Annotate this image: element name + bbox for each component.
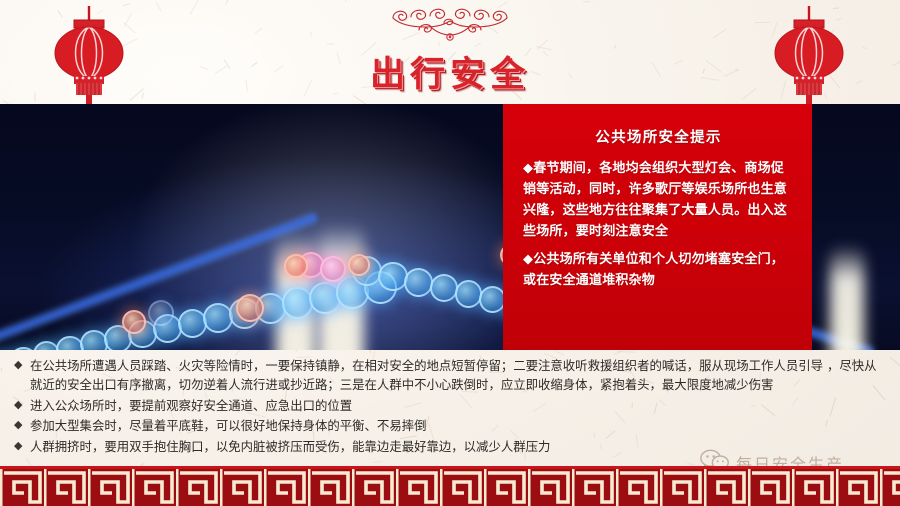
page-title: 出行安全 — [0, 46, 900, 97]
bullet-2-text: 进入公众场所时，要提前观察好安全通道、应急出口的位置 — [30, 396, 886, 415]
list-item: ◆ 在公共场所遭遇人员踩踏、火灾等险情时，一要保持镇静，在相对安全的地点短暂停留… — [14, 356, 886, 395]
chinese-meander-border — [0, 469, 900, 506]
safety-bullet-list: ◆ 在公共场所遭遇人员踩踏、火灾等险情时，一要保持镇静，在相对安全的地点短暂停留… — [0, 352, 900, 458]
list-item: ◆ 参加大型集会时，尽量着平底鞋，可以很好地保持身体的平衡、不易摔倒 — [14, 416, 886, 435]
panel-paragraph-1: ◆春节期间，各地均会组织大型灯会、商场促销等活动，同时，许多歌厅等娱乐场所也生意… — [523, 158, 794, 242]
safety-tips-panel: 公共场所安全提示 ◆春节期间，各地均会组织大型灯会、商场促销等活动，同时，许多歌… — [503, 104, 812, 350]
list-item: ◆ 进入公众场所时，要提前观察好安全通道、应急出口的位置 — [14, 396, 886, 415]
bullet-marker-icon: ◆ — [14, 416, 30, 435]
bridge-tower-3 — [830, 244, 864, 350]
panel-heading: 公共场所安全提示 — [523, 126, 794, 147]
panel-paragraph-2: ◆公共场所有关单位和个人切勿堵塞安全门，或在安全通道堆积杂物 — [523, 249, 794, 291]
bullet-marker-icon: ◆ — [14, 437, 30, 456]
bullet-1-line-1: 在公共场所遭遇人员踩踏、火灾等险情时，一要保持镇静，在相对安全的地点短暂停留；二… — [30, 358, 823, 373]
bullet-marker-icon: ◆ — [14, 396, 30, 415]
bullet-3-text: 参加大型集会时，尽量着平底鞋，可以很好地保持身体的平衡、不易摔倒 — [30, 416, 886, 435]
bullet-marker-icon: ◆ — [14, 356, 30, 375]
bullet-1-text: 在公共场所遭遇人员踩踏、火灾等险情时，一要保持镇静，在相对安全的地点短暂停留；二… — [30, 356, 886, 395]
chinese-scroll-ornament-icon — [385, 2, 515, 42]
slide-root: 出行安全 公共场所安全提示 ◆春节期间，各地均会组织大型灯会、商场促销等活动，同… — [0, 0, 900, 506]
